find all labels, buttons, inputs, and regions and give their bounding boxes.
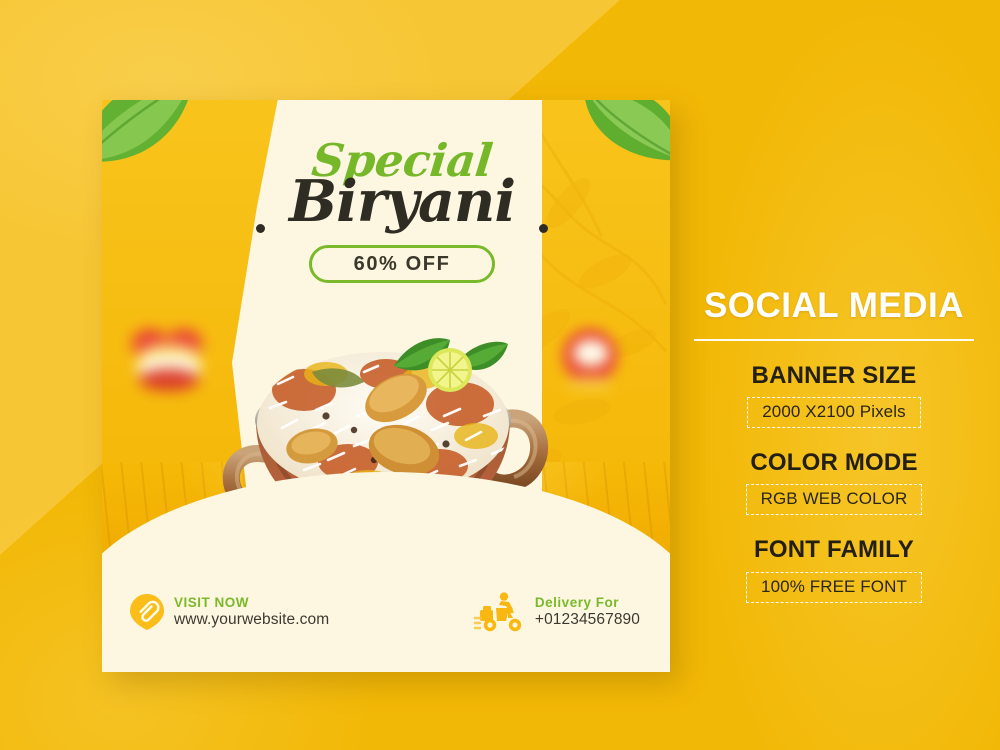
banner-footer: VISIT NOW www.yourwebsite.com (102, 580, 670, 672)
spec-panel-divider (694, 339, 974, 341)
website-url[interactable]: www.yourwebsite.com (174, 611, 329, 629)
spec-heading: COLOR MODE (688, 450, 980, 475)
link-paperclip-icon (130, 594, 164, 630)
spec-value: 2000 X2100 Pixels (762, 402, 905, 421)
offer-badge[interactable]: 60% OFF (309, 245, 495, 283)
spec-group-banner-size: BANNER SIZE 2000 X2100 Pixels (688, 363, 980, 428)
headline-dot-left (256, 224, 265, 233)
spec-value: 100% FREE FONT (761, 577, 907, 596)
social-media-banner-card[interactable]: Special Biryani 60% OFF (102, 100, 670, 672)
spec-panel-title: SOCIAL MEDIA (688, 288, 980, 323)
offer-badge-label: 60% OFF (354, 253, 451, 276)
headline-main-title: Biryani (252, 175, 552, 230)
blurred-tomato-icon (554, 322, 626, 394)
spec-panel: SOCIAL MEDIA BANNER SIZE 2000 X2100 Pixe… (688, 288, 980, 625)
leaf-icon (582, 100, 670, 168)
spec-heading: BANNER SIZE (688, 363, 980, 388)
spec-group-color-mode: COLOR MODE RGB WEB COLOR (688, 450, 980, 515)
delivery-scooter-icon (474, 592, 526, 632)
spec-heading: FONT FAMILY (688, 537, 980, 562)
leaf-icon (102, 100, 194, 170)
spec-group-font-family: FONT FAMILY 100% FREE FONT (688, 537, 980, 602)
spec-value-box: 2000 X2100 Pixels (747, 397, 920, 428)
delivery-block[interactable]: Delivery For +01234567890 (474, 592, 640, 632)
blurred-food-icon (126, 322, 212, 396)
delivery-label: Delivery For (535, 595, 640, 610)
visit-now-label: VISIT NOW (174, 595, 329, 610)
delivery-phone[interactable]: +01234567890 (535, 611, 640, 629)
headline-dot-right (539, 224, 548, 233)
spec-value: RGB WEB COLOR (761, 489, 908, 508)
spec-value-box: 100% FREE FONT (746, 572, 922, 603)
banner-headline: Special Biryani 60% OFF (252, 140, 552, 283)
spec-value-box: RGB WEB COLOR (746, 484, 923, 515)
visit-now-block[interactable]: VISIT NOW www.yourwebsite.com (130, 594, 329, 630)
